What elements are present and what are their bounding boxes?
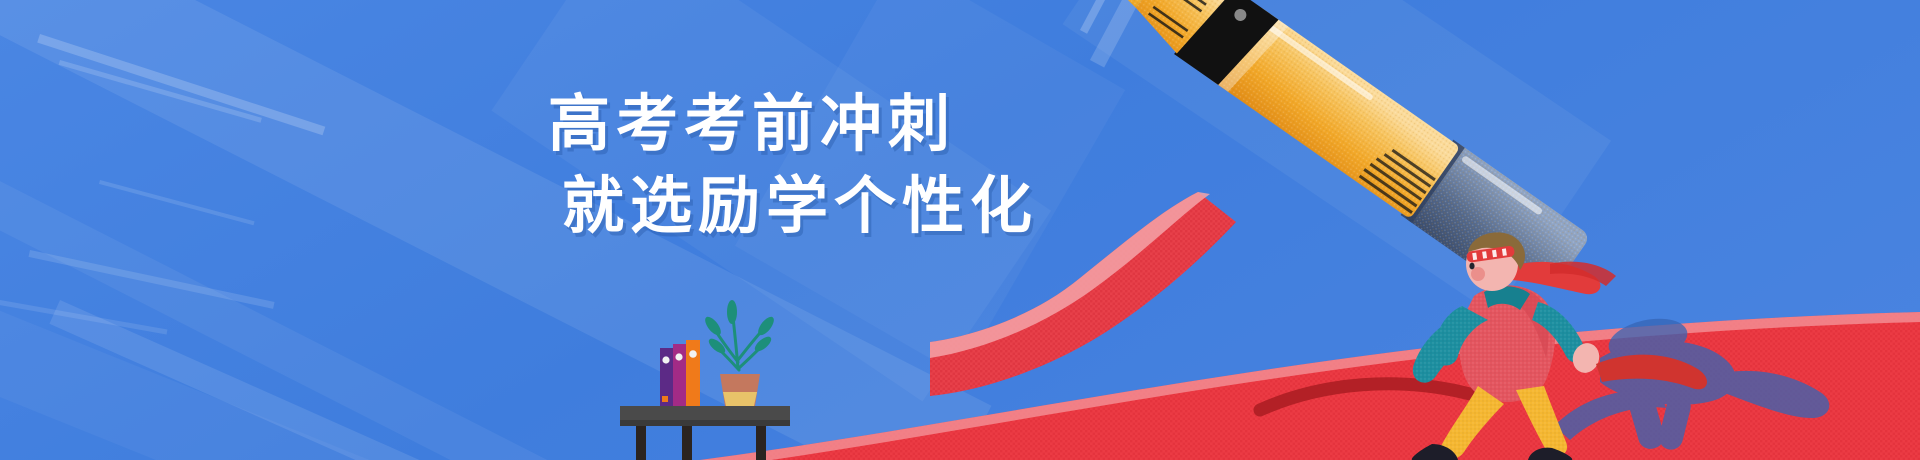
headline-block: 高考考前冲刺 就选励学个性化: [548, 84, 1038, 248]
headline-line-2: 就选励学个性化: [562, 166, 1038, 248]
promo-banner: 高考考前冲刺 就选励学个性化: [0, 0, 1920, 460]
headline-line-1: 高考考前冲刺: [548, 84, 1038, 166]
